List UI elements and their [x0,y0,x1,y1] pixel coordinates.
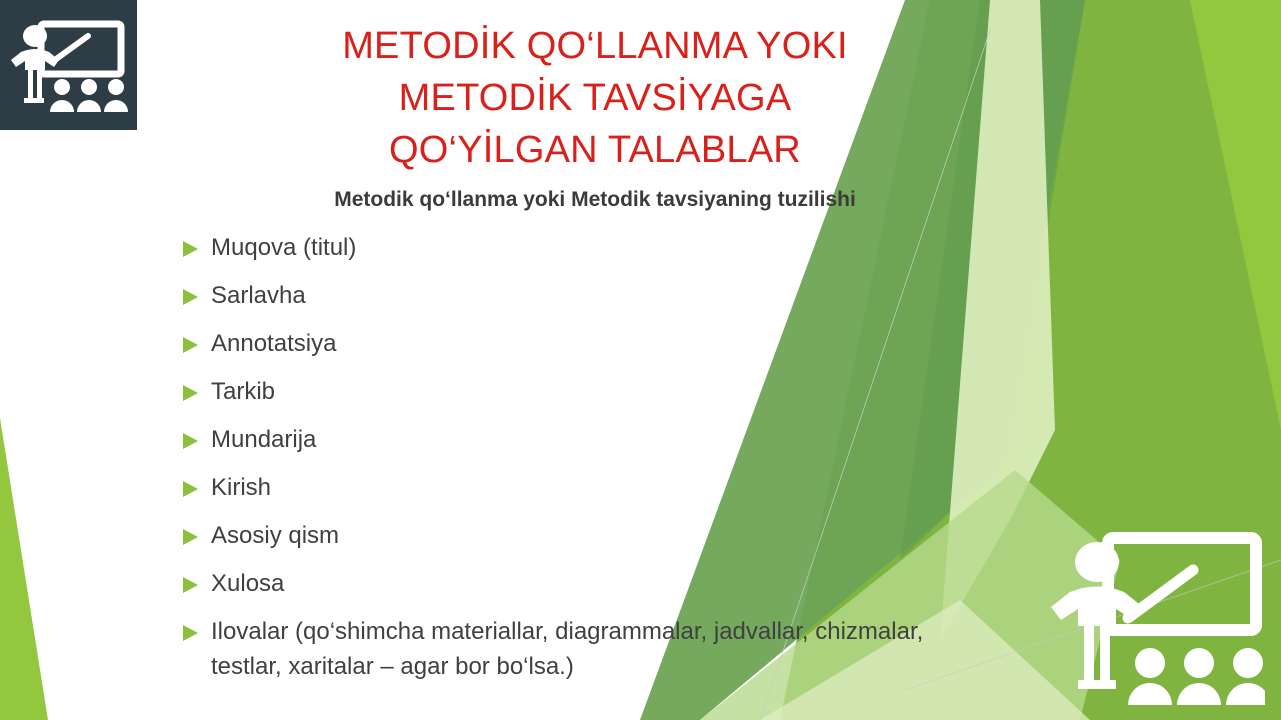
list-item-label: Ilovalar (qo‘shimcha materiallar, diagra… [211,614,983,684]
corner-badge [0,0,137,130]
list-item: Mundarija [183,422,983,457]
bullet-list: Muqova (titul) Sarlavha Annotatsiya Tark… [183,230,983,697]
triangle-right-icon [183,433,198,449]
list-item: Muqova (titul) [183,230,983,265]
teacher-classroom-icon [1050,530,1265,710]
teacher-classroom-icon [10,14,128,118]
triangle-right-icon [183,529,198,545]
title-line-3: QO‘YİLGAN TALABLAR [200,124,990,176]
triangle-right-icon [183,385,198,401]
list-item: Ilovalar (qo‘shimcha materiallar, diagra… [183,614,983,684]
list-item-label: Kirish [211,470,271,505]
list-item-label: Asosiy qism [211,518,339,553]
triangle-right-icon [183,625,198,641]
list-item: Sarlavha [183,278,983,313]
slide-subtitle: Metodik qo‘llanma yoki Metodik tavsiyani… [180,186,1010,214]
presentation-slide: METODİK QO‘LLANMA YOKI METODİK TAVSİYAGA… [0,0,1281,720]
title-line-2: METODİK TAVSİYAGA [200,72,990,124]
list-item-label: Xulosa [211,566,284,601]
list-item: Xulosa [183,566,983,601]
list-item: Asosiy qism [183,518,983,553]
triangle-right-icon [183,481,198,497]
list-item-label: Muqova (titul) [211,230,356,265]
list-item: Tarkib [183,374,983,409]
triangle-right-icon [183,337,198,353]
list-item-label: Tarkib [211,374,275,409]
list-item-label: Sarlavha [211,278,306,313]
triangle-right-icon [183,289,198,305]
triangle-right-icon [183,241,198,257]
list-item-label: Mundarija [211,422,316,457]
title-line-1: METODİK QO‘LLANMA YOKI [200,20,990,72]
list-item: Annotatsiya [183,326,983,361]
list-item-label: Annotatsiya [211,326,336,361]
triangle-right-icon [183,577,198,593]
page-title: METODİK QO‘LLANMA YOKI METODİK TAVSİYAGA… [200,20,990,176]
list-item: Kirish [183,470,983,505]
